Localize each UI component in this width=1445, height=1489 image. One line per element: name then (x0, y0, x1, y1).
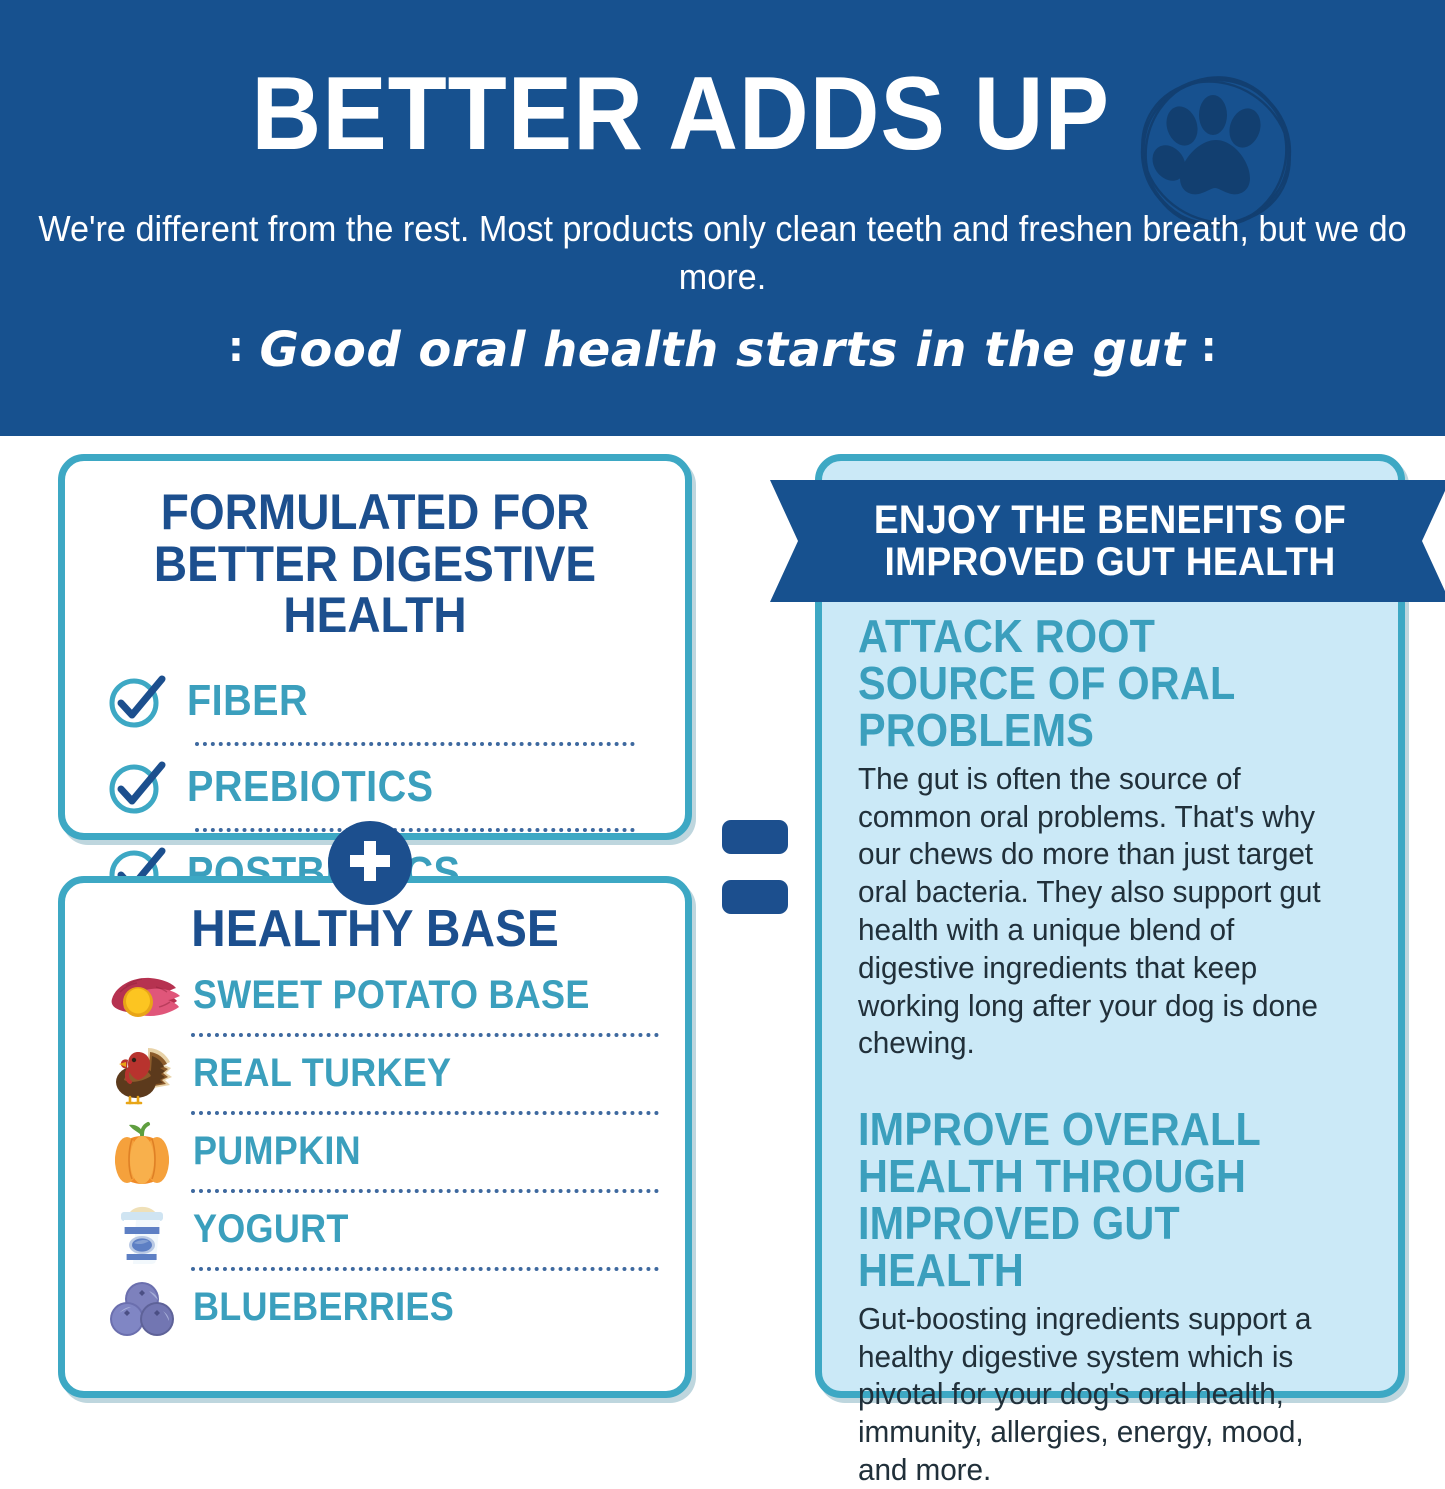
turkey-icon (99, 1040, 185, 1108)
list-item-label: PREBIOTICS (187, 762, 434, 812)
benefits-ribbon: ENJOY THE BENEFITS OF IMPROVED GUT HEALT… (770, 480, 1445, 602)
plus-badge-icon (328, 821, 412, 905)
check-circle-icon (99, 755, 173, 819)
healthy-base-card: HEALTHY BASE SWEET POTATO BASE (58, 876, 692, 1398)
tagline-text: Good oral health starts in the gut (259, 322, 1185, 378)
benefit-section: IMPROVE OVERALL HEALTH THROUGH IMPROVED … (822, 1062, 1398, 1489)
list-item-label: SWEET POTATO BASE (193, 973, 590, 1018)
divider (195, 742, 635, 746)
benefit-heading: IMPROVE OVERALL HEALTH THROUGH IMPROVED … (858, 1106, 1312, 1294)
list-item: PUMPKIN (99, 1115, 663, 1189)
divider (191, 1033, 659, 1037)
list-item-label: YOGURT (193, 1207, 349, 1252)
divider (191, 1189, 659, 1193)
pumpkin-icon (99, 1117, 185, 1187)
equals-bar-bottom (722, 880, 788, 914)
benefit-body: Gut-boosting ingredients support a healt… (858, 1300, 1342, 1489)
ingredient-list: SWEET POTATO BASE (65, 959, 685, 1345)
divider (191, 1111, 659, 1115)
sweet-potato-icon (99, 965, 185, 1027)
benefit-heading: ATTACK ROOT SOURCE OF ORAL PROBLEMS (858, 613, 1312, 754)
list-item: BLUEBERRIES (99, 1271, 663, 1345)
equals-bar-top (722, 820, 788, 854)
content-area: FORMULATED FOR BETTER DIGESTIVE HEALTH F… (0, 436, 1445, 1410)
benefit-body: The gut is often the source of common or… (858, 760, 1342, 1063)
header-banner: BETTER ADDS UP We're different from (0, 0, 1445, 436)
ribbon-line-1: ENJOY THE BENEFITS OF (874, 499, 1346, 541)
list-item: PREBIOTICS (99, 746, 651, 828)
formulated-card: FORMULATED FOR BETTER DIGESTIVE HEALTH F… (58, 454, 692, 840)
header-subtitle: We're different from the rest. Most prod… (36, 205, 1409, 300)
blueberries-icon (99, 1275, 185, 1341)
list-item-label: PUMPKIN (193, 1129, 361, 1174)
check-circle-icon (99, 669, 173, 733)
divider (191, 1267, 659, 1271)
list-item: SWEET POTATO BASE (99, 959, 663, 1033)
list-item-label: BLUEBERRIES (193, 1285, 454, 1330)
tagline-deco-left: ∶ (230, 328, 242, 374)
list-item-label: FIBER (187, 676, 308, 726)
divider (195, 828, 635, 832)
yogurt-cup-icon (99, 1194, 185, 1266)
tagline-deco-right: ∶ (1203, 328, 1215, 374)
equals-sign-icon (722, 820, 788, 914)
list-item-label: REAL TURKEY (193, 1051, 451, 1096)
list-item: FIBER (99, 660, 651, 742)
ribbon-line-2: IMPROVED GUT HEALTH (884, 541, 1335, 583)
healthy-base-title: HEALTHY BASE (90, 903, 660, 957)
header-tagline: ∶ Good oral health starts in the gut ∶ (0, 322, 1445, 378)
formulated-card-title: FORMULATED FOR BETTER DIGESTIVE HEALTH (90, 487, 660, 642)
list-item: YOGURT (99, 1193, 663, 1267)
list-item: REAL TURKEY (99, 1037, 663, 1111)
